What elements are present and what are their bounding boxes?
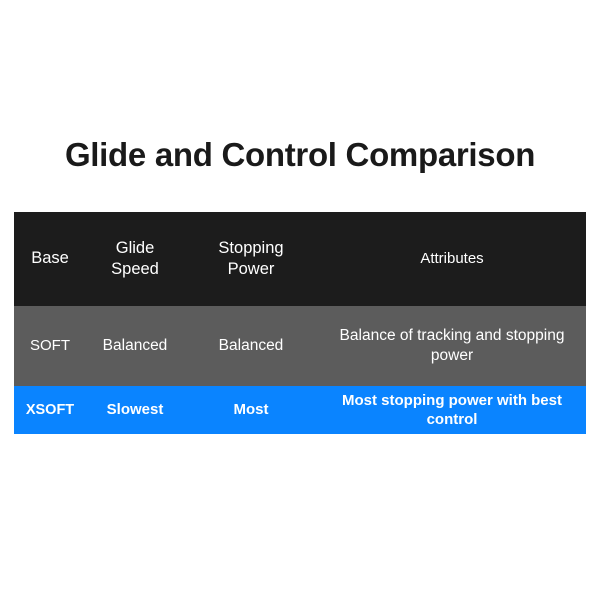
header-stopping-power-line1: Stopping [188, 238, 314, 259]
header-glide-speed-line1: Glide [90, 238, 180, 259]
header-cell-glide-speed: Glide Speed [86, 212, 184, 306]
soft-base-cell: SOFT [14, 306, 86, 386]
soft-attributes-line1: Balance of tracking and stopping [322, 326, 582, 346]
xsoft-base-cell: XSOFT [14, 386, 86, 434]
soft-glide-speed-cell: Balanced [86, 306, 184, 386]
header-cell-attributes: Attributes [318, 212, 586, 306]
header-stopping-power-line2: Power [188, 259, 314, 280]
table-row: XSOFT Slowest Most Most stopping power w… [14, 386, 586, 434]
xsoft-stopping-power-cell: Most [184, 386, 318, 434]
xsoft-glide-speed-cell: Slowest [86, 386, 184, 434]
soft-attributes-line2: power [322, 346, 582, 366]
comparison-table-container: Base Glide Speed Stopping Power Attribut… [14, 212, 586, 434]
xsoft-attributes-cell: Most stopping power with best control [318, 386, 586, 434]
header-cell-stopping-power: Stopping Power [184, 212, 318, 306]
soft-stopping-power-cell: Balanced [184, 306, 318, 386]
soft-attributes-cell: Balance of tracking and stopping power [318, 306, 586, 386]
page-root: Glide and Control Comparison Base Glide … [0, 0, 600, 600]
header-glide-speed-line2: Speed [90, 259, 180, 280]
table-header-row: Base Glide Speed Stopping Power Attribut… [14, 212, 586, 306]
page-title: Glide and Control Comparison [0, 136, 600, 174]
header-cell-base: Base [14, 212, 86, 306]
comparison-table: Base Glide Speed Stopping Power Attribut… [14, 212, 586, 434]
table-row: SOFT Balanced Balanced Balance of tracki… [14, 306, 586, 386]
